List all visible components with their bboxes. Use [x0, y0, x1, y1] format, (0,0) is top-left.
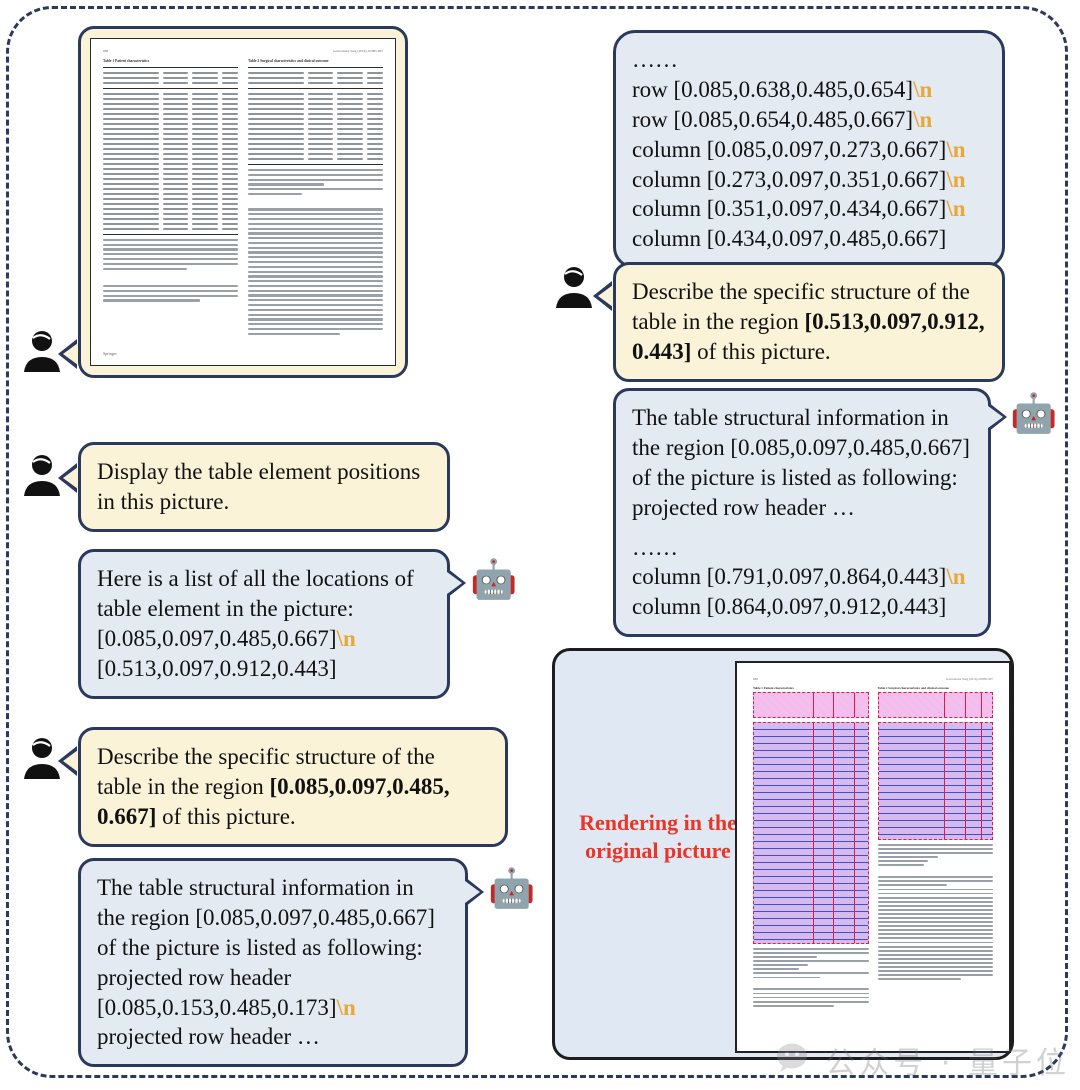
bubble-display-positions[interactable]: Display the table element positions in t…: [78, 442, 450, 532]
rd-table1-caption: Table 1 Patient characteristics: [753, 686, 869, 690]
rd-left-paragraph: [753, 988, 869, 1006]
bubble-line: The table structural information in: [632, 403, 972, 433]
bubble-line: 0.667] of this picture.: [97, 802, 489, 832]
bubble-line: table in the region [0.513,0.097,0.912,: [632, 307, 986, 337]
rd-table2-caption: Table 2 Surgical characteristics and cli…: [878, 686, 994, 690]
bubble-line: the region [0.085,0.097,0.485,0.667]: [632, 433, 972, 463]
document-footer: Springer: [103, 351, 117, 356]
region-coordinates: 0.443]: [632, 339, 691, 364]
document-column-left: Table 1 Patient characteristics: [103, 59, 238, 338]
table2-caption: Table 2 Surgical characteristics and cli…: [248, 59, 383, 63]
document-page: 888 Gastrointest Surg (2016) 20:885-897 …: [90, 38, 396, 366]
bubble-tail: [598, 285, 613, 307]
bubble-line: Describe the specific structure of the: [97, 742, 489, 772]
document-preview-bubble: 888 Gastrointest Surg (2016) 20:885-897 …: [78, 26, 408, 378]
robot-avatar-icon: 🤖: [488, 866, 534, 912]
robot-avatar-icon: 🤖: [470, 557, 516, 603]
newline-token: \n: [946, 137, 965, 162]
bubble-line: [0.085,0.153,0.485,0.173]\n: [97, 993, 449, 1023]
region-coordinates: [0.513,0.097,0.912,: [804, 309, 984, 334]
bubble-line: row [0.085,0.638,0.485,0.654]\n: [632, 75, 986, 105]
bubble-tail: [988, 406, 1003, 428]
bubble-line: projected row header: [97, 963, 449, 993]
table1-body-highlight: [753, 722, 869, 944]
bubble-line: column [0.434,0.097,0.485,0.667]: [632, 224, 986, 254]
bubble-line: column [0.085,0.097,0.273,0.667]\n: [632, 135, 986, 165]
bubble-line: row [0.085,0.654,0.485,0.667]\n: [632, 105, 986, 135]
newline-token: \n: [946, 196, 965, 221]
newline-token: \n: [337, 626, 356, 651]
render-label: Rendering in the original picture: [573, 809, 743, 864]
bubble-row-column-list[interactable]: …… row [0.085,0.638,0.485,0.654]\n row […: [613, 30, 1005, 269]
newline-token: \n: [337, 995, 356, 1020]
table2-body-highlight: [878, 722, 994, 840]
watermark-text: 公众号 · 量子位: [825, 1038, 1070, 1082]
bubble-line: Here is a list of all the locations of: [97, 564, 431, 594]
newline-token: \n: [946, 167, 965, 192]
bubble-line: The table structural information in: [97, 873, 449, 903]
user-avatar-icon: [18, 450, 68, 500]
rd-table1-notes: [753, 948, 869, 978]
render-label-line2: original picture: [573, 837, 743, 865]
bubble-line: column [0.351,0.097,0.434,0.667]\n: [632, 194, 986, 224]
newline-token: \n: [913, 77, 932, 102]
rendering-panel: Rendering in the original picture 888 Ga…: [552, 648, 1014, 1060]
bubble-locations-list[interactable]: Here is a list of all the locations of t…: [78, 549, 450, 699]
bubble-line: Describe the specific structure of the: [632, 277, 986, 307]
table2-header-highlight: [878, 692, 994, 718]
bubble-line: column [0.791,0.097,0.864,0.443]\n: [632, 562, 972, 592]
newline-token: \n: [946, 564, 965, 589]
wechat-icon: [775, 1040, 815, 1080]
newline-token: \n: [913, 107, 932, 132]
rendered-document-page: 888 Gastrointest Surg (2016) 20:885-897 …: [735, 661, 1011, 1053]
bubble-line: of the picture is listed as following:: [97, 933, 449, 963]
user-avatar-icon: [550, 262, 600, 312]
bubble-line: [0.513,0.097,0.912,0.443]: [97, 654, 431, 684]
bubble-line: Display the table element positions: [97, 457, 431, 487]
bubble-line: table in the region [0.085,0.097,0.485,: [97, 772, 489, 802]
rd-right-paragraph: [878, 876, 994, 980]
bubble-line: table element in the picture:: [97, 594, 431, 624]
rd-head-right: Gastrointest Surg (2016) 20:885-897: [946, 677, 993, 681]
rendered-column-right: Table 2 Surgical characteristics and cli…: [878, 686, 994, 1009]
rd-head-left: 888: [753, 677, 758, 681]
bubble-line: ……: [632, 533, 972, 563]
bubble-line: [632, 523, 972, 533]
bubble-describe-region-left[interactable]: Describe the specific structure of the t…: [78, 727, 508, 847]
bubble-describe-region-right[interactable]: Describe the specific structure of the t…: [613, 262, 1005, 382]
bubble-line: column [0.273,0.097,0.351,0.667]\n: [632, 165, 986, 195]
bubble-line: projected row header …: [97, 1022, 449, 1052]
bubble-structure-answer-right[interactable]: The table structural information in the …: [613, 388, 991, 637]
bubble-line: in this picture.: [97, 487, 431, 517]
document-column-right: Table 2 Surgical characteristics and cli…: [248, 59, 383, 338]
render-label-line1: Rendering in the: [573, 809, 743, 837]
document-running-head: 888 Gastrointest Surg (2016) 20:885-897: [103, 49, 383, 53]
region-coordinates: [0.085,0.097,0.485,: [269, 774, 449, 799]
bubble-structure-answer-left[interactable]: The table structural information in the …: [78, 858, 468, 1067]
rendered-running-head: 888 Gastrointest Surg (2016) 20:885-897: [753, 677, 993, 681]
bubble-line: [0.085,0.097,0.485,0.667]\n: [97, 624, 431, 654]
bubble-line: ……: [632, 45, 986, 75]
bubble-line: the region [0.085,0.097,0.485,0.667]: [97, 903, 449, 933]
user-avatar-icon: [18, 326, 68, 376]
table1-caption: Table 1 Patient characteristics: [103, 59, 238, 63]
region-coordinates: 0.667]: [97, 804, 156, 829]
bubble-tail: [465, 881, 480, 903]
watermark: 公众号 · 量子位: [775, 1038, 1070, 1082]
user-avatar-icon: [18, 733, 68, 783]
robot-avatar-icon: 🤖: [1010, 391, 1056, 437]
bubble-line: projected row header …: [632, 493, 972, 523]
rendered-column-left: Table 1 Patient characteristics: [753, 686, 869, 1009]
doc-head-left: 888: [103, 49, 108, 53]
doc-head-right: Gastrointest Surg (2016) 20:885-897: [333, 49, 383, 53]
rd-table2-notes: [878, 844, 994, 866]
bubble-tail: [447, 572, 462, 594]
bubble-line: 0.443] of this picture.: [632, 337, 986, 367]
table1-header-highlight: [753, 692, 869, 718]
bubble-line: of the picture is listed as following:: [632, 463, 972, 493]
bubble-line: column [0.864,0.097,0.912,0.443]: [632, 592, 972, 622]
